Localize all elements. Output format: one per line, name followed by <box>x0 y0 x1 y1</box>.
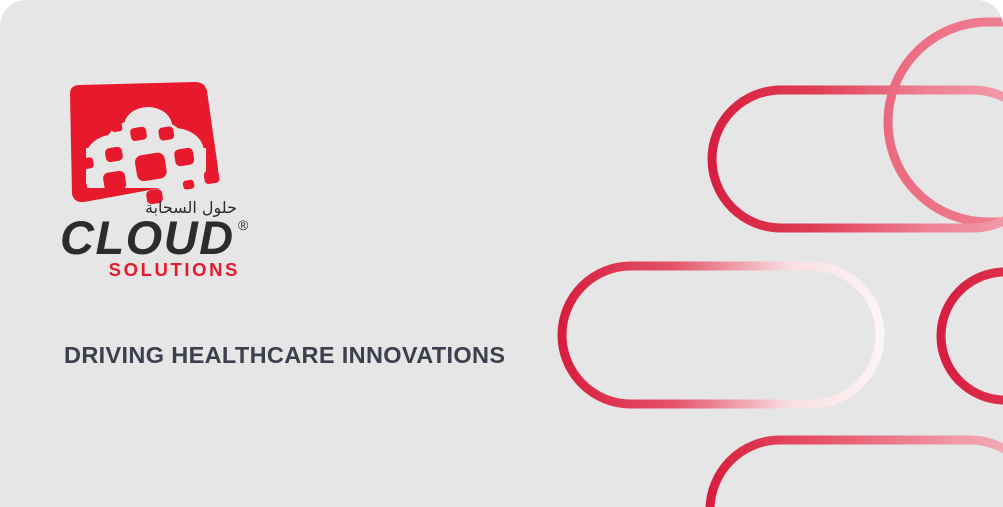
logo-cloud-row: CLOUD ® <box>62 217 257 259</box>
logo-wordmark: حلول السحابة CLOUD ® SOLUTIONS <box>62 200 262 280</box>
page-title: DRIVING HEALTHCARE INNOVATIONS <box>64 341 505 369</box>
pill-middle-right <box>941 272 1003 400</box>
banner-card: حلول السحابة CLOUD ® SOLUTIONS DRIVING H… <box>0 0 1003 507</box>
registered-trademark-icon: ® <box>238 218 248 232</box>
logo: حلول السحابة CLOUD ® SOLUTIONS <box>62 82 262 282</box>
pill-upper-center <box>712 90 1003 228</box>
pill-middle-center <box>562 266 880 404</box>
pill-top-right <box>888 22 1003 222</box>
cloud-pixels-logo-mark <box>62 82 234 217</box>
pill-bottom-right <box>710 440 1003 507</box>
logo-cloud-text: CLOUD <box>60 217 235 259</box>
